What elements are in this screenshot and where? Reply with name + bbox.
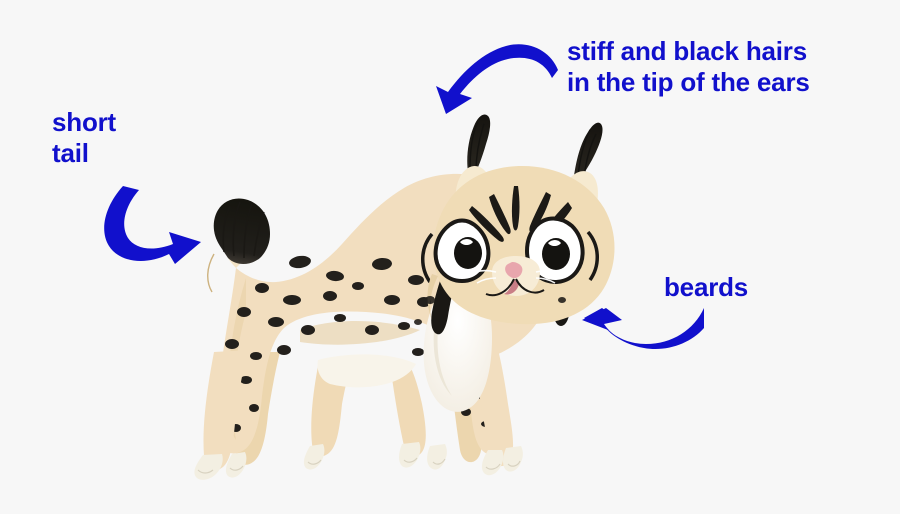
tail-black-tip xyxy=(214,198,270,264)
illustration-canvas: stiff and black hairs in the tip of the … xyxy=(0,0,900,514)
arrow-to-beards xyxy=(582,304,704,352)
pupil-left xyxy=(454,237,482,269)
lynx-body xyxy=(194,114,614,479)
label-ear-tufts: stiff and black hairs in the tip of the … xyxy=(567,36,810,98)
pupil-right xyxy=(542,238,570,270)
arrow-to-ear-tufts xyxy=(432,36,562,116)
lynx-head xyxy=(423,114,615,324)
arrow-to-tail xyxy=(95,184,217,266)
label-short-tail: short tail xyxy=(52,107,116,169)
label-beards: beards xyxy=(664,272,748,303)
